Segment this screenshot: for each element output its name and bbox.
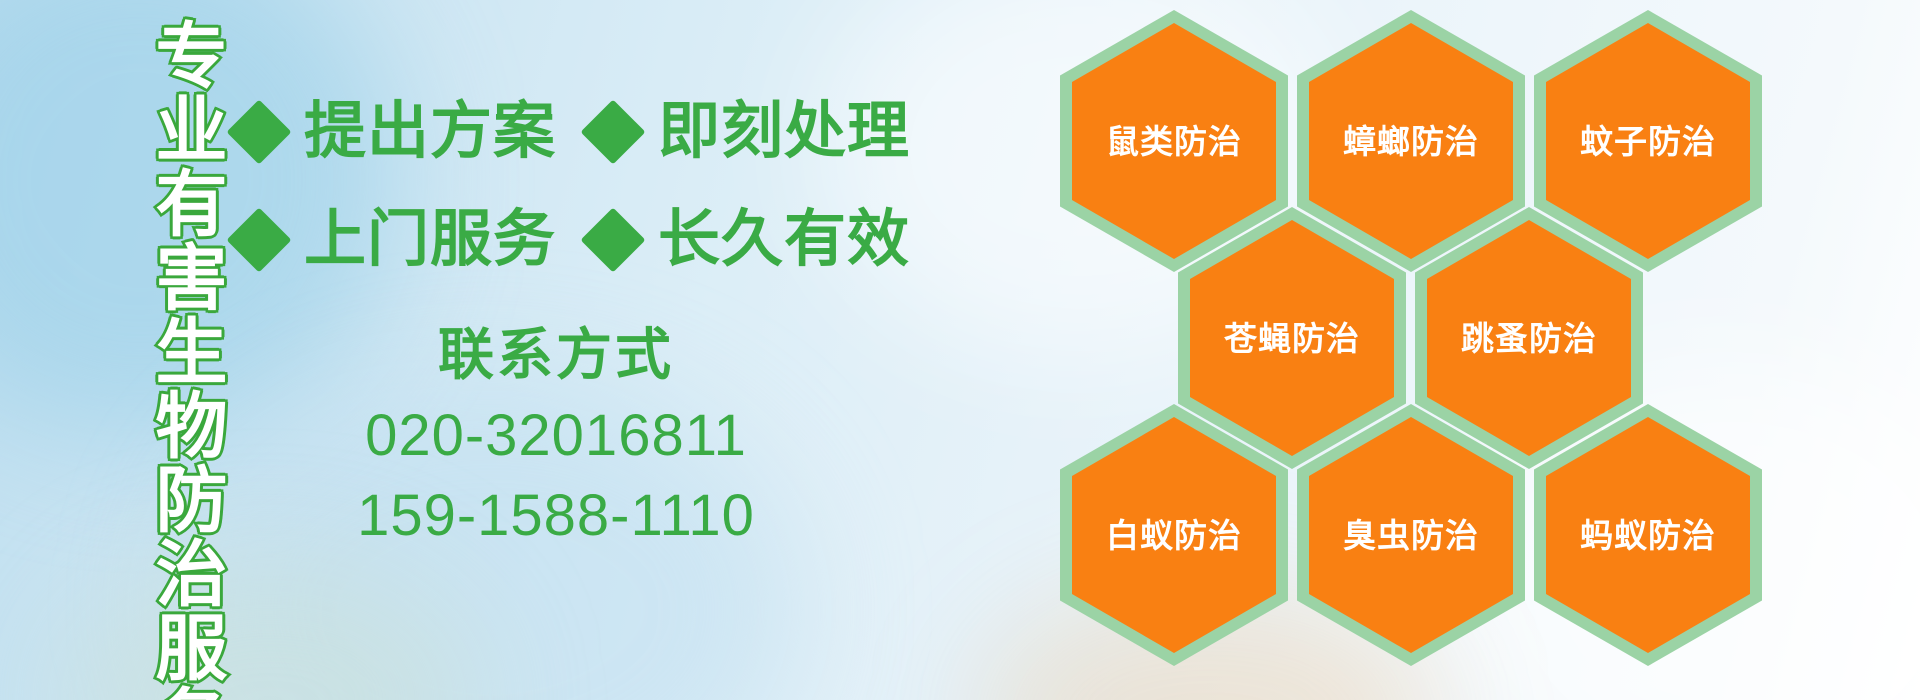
feature-label: 即刻处理 [658,101,910,163]
service-hex-inner: 苍蝇防治 [1190,220,1394,456]
service-label: 蚂蚁防治 [1580,519,1716,552]
contact-phone-landline[interactable]: 020-32016811 [236,396,876,476]
diamond-bullet-icon [226,207,291,272]
service-hex-inner: 蟑螂防治 [1309,23,1513,259]
feature-label: 上门服务 [304,209,556,271]
vertical-headline: 专业有害生物防治服务 [108,18,220,682]
contact-heading: 联系方式 [236,320,876,390]
service-label: 蟑螂防治 [1343,125,1479,158]
service-label: 白蚁防治 [1106,519,1242,552]
service-label: 苍蝇防治 [1224,322,1360,355]
service-honeycomb: 鼠类防治 蟑螂防治 蚊子防治 苍蝇防治 跳蚤防治 白蚁防 [1060,0,1780,700]
service-hex-inner: 蚊子防治 [1546,23,1750,259]
pest-control-banner: 专业有害生物防治服务 提出方案 即刻处理 上门服务 长久有效 联系方式 [0,0,1920,700]
feature-item-long-lasting-effect: 长久有效 [590,209,910,271]
feature-item-propose-plan: 提出方案 [236,101,556,163]
service-hex-inner: 蚂蚁防治 [1546,417,1750,653]
service-label: 臭虫防治 [1343,519,1479,552]
service-label: 蚊子防治 [1580,125,1716,158]
feature-row: 提出方案 即刻处理 [236,78,876,186]
feature-row: 上门服务 长久有效 [236,186,876,294]
service-hex-inner: 跳蚤防治 [1427,220,1631,456]
feature-item-door-to-door-service: 上门服务 [236,209,556,271]
diamond-bullet-icon [580,99,645,164]
contact-phone-mobile[interactable]: 159-1588-1110 [236,476,876,556]
diamond-bullet-icon [580,207,645,272]
feature-label: 长久有效 [658,209,910,271]
diamond-bullet-icon [226,99,291,164]
feature-list: 提出方案 即刻处理 上门服务 长久有效 [236,78,876,294]
service-label: 鼠类防治 [1106,125,1242,158]
service-hex-inner: 鼠类防治 [1072,23,1276,259]
contact-block: 联系方式 020-32016811 159-1588-1110 [236,320,876,556]
service-hex-inner: 臭虫防治 [1309,417,1513,653]
service-label: 跳蚤防治 [1461,322,1597,355]
feature-item-immediate-handling: 即刻处理 [590,101,910,163]
service-hex-inner: 白蚁防治 [1072,417,1276,653]
feature-label: 提出方案 [304,101,556,163]
